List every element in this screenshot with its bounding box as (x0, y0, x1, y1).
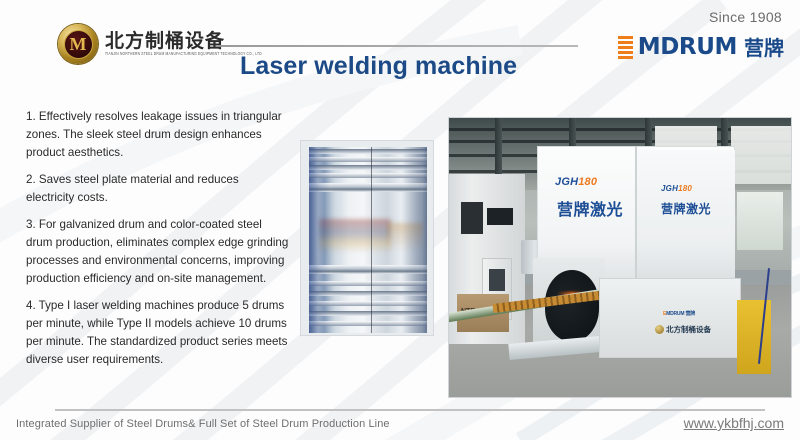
photo-steel-drum (300, 140, 434, 336)
emdrum-wordmark: MDRUM (638, 36, 737, 59)
machine-side-panel (599, 278, 741, 358)
machine-company-decal: 北方制桶设备 (655, 324, 711, 335)
yellow-guard-panel (737, 300, 771, 374)
emdrum-logo: MDRUM 营牌 (618, 36, 784, 59)
seal-emblem-icon-small (655, 325, 664, 334)
slide-root: M 北方制桶设备 TIANJIN NORTHERN STEEL DRUM MAN… (0, 0, 800, 440)
machine-emdrum-decal: EMDRUM 营牌 (663, 310, 695, 317)
feature-list: 1. Effectively resolves leakage issues i… (26, 108, 290, 378)
feature-item: 3. For galvanized drum and color-coated … (26, 216, 290, 288)
footer-divider-line (55, 409, 765, 411)
drum-stack-icon (618, 36, 633, 59)
header-divider-line (216, 45, 578, 47)
welding-chamber-opening (545, 270, 599, 342)
feature-item: 1. Effectively resolves leakage issues i… (26, 108, 290, 162)
footer-tagline: Integrated Supplier of Steel Drums& Full… (16, 418, 390, 430)
machine-enclosure-rear (637, 150, 735, 286)
weld-seam-line (371, 147, 372, 333)
company-logo-left: M 北方制桶设备 TIANJIN NORTHERN STEEL DRUM MAN… (58, 24, 262, 64)
machine-brand-label: 营牌激光 (557, 196, 623, 220)
drum-body (309, 147, 427, 333)
page-title: Laser welding machine (240, 52, 517, 81)
machine-brand-label-2: 营牌激光 (661, 200, 711, 217)
emdrum-wordmark-cn: 营牌 (744, 38, 784, 58)
since-label: Since 1908 (709, 9, 782, 25)
workshop-window (737, 192, 783, 250)
company-name-en: TIANJIN NORTHERN STEEL DRUM MANUFACTURIN… (105, 52, 262, 57)
seal-letter: M (70, 35, 87, 53)
photo-laser-welding-machine: NTB JGH180 营牌激光 JGH180 营牌激光 EMDRUM 营牌 北方… (448, 117, 792, 398)
slide-header: M 北方制桶设备 TIANJIN NORTHERN STEEL DRUM MAN… (0, 0, 800, 96)
feature-item: 4. Type I laser welding machines produce… (26, 297, 290, 369)
seal-emblem-icon: M (58, 24, 98, 64)
company-name-cn: 北方制桶设备 (105, 32, 262, 51)
machine-model-label-2: JGH180 (661, 184, 692, 193)
footer-website-link[interactable]: www.ykbfhj.com (684, 415, 784, 431)
feature-item: 2. Saves steel plate material and reduce… (26, 171, 290, 207)
machine-model-label: JGH180 (555, 176, 597, 188)
